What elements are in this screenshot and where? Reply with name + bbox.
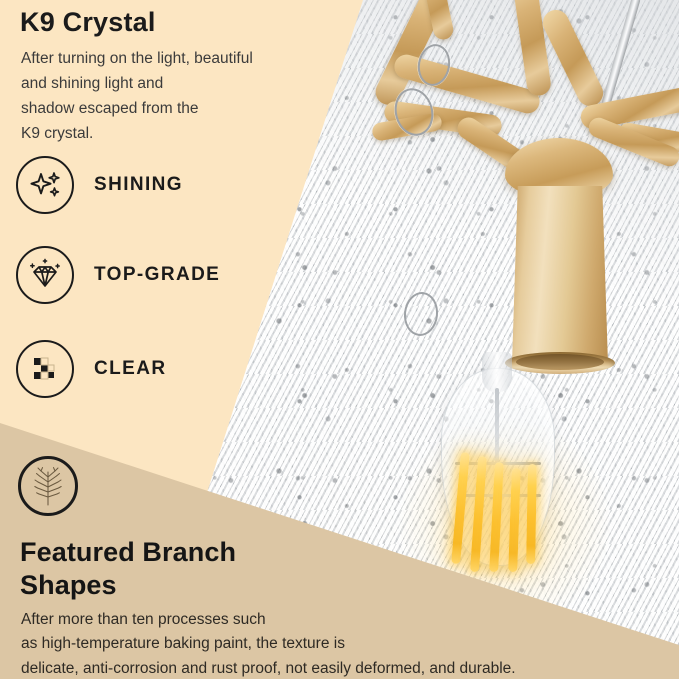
- top-section-body: After turning on the light, beautiful an…: [21, 46, 253, 146]
- feature-label-top-grade: TOP-GRADE: [94, 264, 220, 286]
- bottom-section-heading: Featured Branch Shapes: [20, 536, 236, 602]
- bottom-section-body: After more than ten processes such as hi…: [21, 608, 516, 679]
- checkerboard-icon: [16, 340, 74, 398]
- feature-row-clear: CLEAR: [16, 340, 166, 398]
- top-section-heading: K9 Crystal: [20, 6, 156, 38]
- feature-row-top-grade: TOP-GRADE: [16, 246, 220, 304]
- diamond-icon: [16, 246, 74, 304]
- branch-tree-icon: [18, 456, 78, 516]
- feature-row-shining: SHINING: [16, 156, 183, 214]
- feature-label-shining: SHINING: [94, 174, 183, 196]
- feature-label-clear: CLEAR: [94, 358, 166, 380]
- product-feature-panel: K9 Crystal After turning on the light, b…: [0, 0, 679, 679]
- content-layer: K9 Crystal After turning on the light, b…: [0, 0, 679, 679]
- sparkles-icon: [16, 156, 74, 214]
